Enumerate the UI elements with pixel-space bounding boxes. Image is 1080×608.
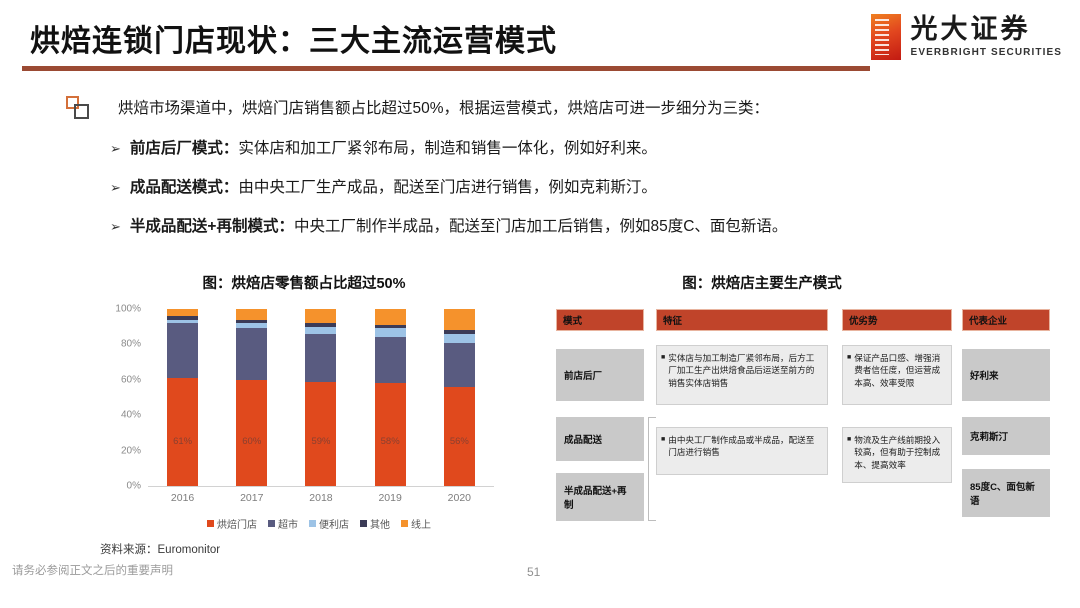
bullet-square-icon: ■ bbox=[847, 434, 851, 476]
square-outline-gray bbox=[74, 104, 89, 119]
bar-segment-超市 bbox=[167, 323, 198, 378]
cell-text: 由中央工厂制作成品或半成品，配送至门店进行销售 bbox=[668, 434, 821, 468]
bullet-list: ➢ 前店后厂模式： 实体店和加工厂紧邻布局，制造和销售一体化，例如好利来。 ➢ … bbox=[110, 136, 1040, 253]
x-axis-tick: 2016 bbox=[153, 492, 212, 504]
cell-text: 实体店与加工制造厂紧邻布局，后方工厂加工生产出烘焙食品后运送至前方的销售实体店销… bbox=[668, 352, 821, 398]
table-proscons-cell: ■物流及生产线前期投入较高，但有助于控制成本、提高效率 bbox=[842, 427, 952, 483]
bar-group: 61%60%59%58%56% bbox=[148, 309, 494, 486]
table-mode-cell: 前店后厂 bbox=[556, 349, 644, 401]
bar-segment-线上 bbox=[444, 309, 475, 330]
legend-swatch-icon bbox=[207, 520, 214, 527]
cell-text: 保证产品口感、增强消费者信任度，但运营成本高、效率受限 bbox=[854, 352, 945, 398]
legend-swatch-icon bbox=[309, 520, 316, 527]
table-mode-cell: 半成品配送+再制 bbox=[556, 473, 644, 521]
title-underline bbox=[22, 66, 870, 71]
bullet-term: 成品配送模式： bbox=[130, 175, 239, 197]
y-axis-tick: 0% bbox=[127, 481, 141, 492]
y-axis-tick: 100% bbox=[115, 304, 141, 315]
bar-segment-线上 bbox=[236, 309, 267, 320]
y-axis-tick: 60% bbox=[121, 374, 141, 385]
arrow-marker-icon: ➢ bbox=[110, 180, 121, 196]
bar-column: 60% bbox=[222, 309, 281, 486]
disclaimer-note: 请务必参阅正文之后的重要声明 bbox=[12, 562, 173, 578]
legend-swatch-icon bbox=[360, 520, 367, 527]
bullet-text: 实体店和加工厂紧邻布局，制造和销售一体化，例如好利来。 bbox=[238, 136, 657, 158]
legend-swatch-icon bbox=[268, 520, 275, 527]
page-number: 51 bbox=[527, 565, 540, 579]
legend-item[interactable]: 其他 bbox=[360, 516, 390, 531]
table-feature-cell: ■实体店与加工制造厂紧邻布局，后方工厂加工生产出烘焙食品后运送至前方的销售实体店… bbox=[656, 345, 828, 405]
bar-segment-超市 bbox=[444, 343, 475, 387]
page-title: 烘焙连锁门店现状：三大主流运营模式 bbox=[30, 16, 557, 60]
bullet-term: 前店后厂模式： bbox=[130, 136, 239, 158]
double-square-icon bbox=[66, 96, 90, 120]
table-header-1: 模式 bbox=[556, 309, 644, 331]
legend-label: 便利店 bbox=[319, 516, 349, 531]
bar-segment-烘焙门店 bbox=[375, 383, 406, 486]
logo-english-name: EVERBRIGHT SECURITIES bbox=[911, 48, 1062, 58]
lead-paragraph: 烘焙市场渠道中，烘焙门店销售额占比超过50%，根据运营模式，烘焙店可进一步细分为… bbox=[118, 96, 769, 118]
table-title: 图：烘焙店主要生产模式 bbox=[552, 272, 972, 293]
legend-label: 线上 bbox=[411, 516, 431, 531]
x-axis-ticks: 20162017201820192020 bbox=[148, 492, 494, 504]
table-company-cell: 克莉斯汀 bbox=[962, 417, 1050, 455]
bar-segment-超市 bbox=[305, 334, 336, 382]
brand-logo: 光大证券 EVERBRIGHT SECURITIES bbox=[871, 14, 1062, 60]
bar-segment-烘焙门店 bbox=[236, 380, 267, 486]
bar-data-label: 60% bbox=[236, 436, 267, 447]
everbright-logo-icon bbox=[871, 14, 901, 60]
y-axis-tick: 40% bbox=[121, 410, 141, 421]
bar-segment-烘焙门店 bbox=[305, 382, 336, 486]
bar-segment-烘焙门店 bbox=[167, 378, 198, 486]
bar-segment-便利店 bbox=[444, 334, 475, 343]
logo-chinese-name: 光大证券 bbox=[911, 16, 1062, 43]
stacked-bar[interactable]: 59% bbox=[305, 309, 336, 486]
stacked-bar[interactable]: 56% bbox=[444, 309, 475, 486]
bar-column: 61% bbox=[153, 309, 212, 486]
table-feature-cell: ■由中央工厂制作成品或半成品，配送至门店进行销售 bbox=[656, 427, 828, 475]
bar-segment-线上 bbox=[305, 309, 336, 323]
stacked-bar[interactable]: 58% bbox=[375, 309, 406, 486]
table-company-cell: 好利来 bbox=[962, 349, 1050, 401]
legend-item[interactable]: 线上 bbox=[401, 516, 431, 531]
bullet-term: 半成品配送+再制模式： bbox=[130, 214, 294, 236]
table-header-3: 优劣势 bbox=[842, 309, 952, 331]
x-axis-tick: 2017 bbox=[222, 492, 281, 504]
chart-title: 图：烘焙店零售额占比超过50% bbox=[104, 272, 504, 293]
bar-segment-便利店 bbox=[375, 328, 406, 337]
cell-text: 物流及生产线前期投入较高，但有助于控制成本、提高效率 bbox=[854, 434, 945, 476]
x-axis-tick: 2019 bbox=[361, 492, 420, 504]
x-axis-tick: 2018 bbox=[292, 492, 351, 504]
bar-data-label: 59% bbox=[305, 436, 336, 447]
list-item: ➢ 前店后厂模式： 实体店和加工厂紧邻布局，制造和销售一体化，例如好利来。 bbox=[110, 136, 1040, 158]
source-note: 资料来源：Euromonitor bbox=[100, 541, 220, 557]
legend-label: 超市 bbox=[278, 516, 298, 531]
table-mode-cell: 成品配送 bbox=[556, 417, 644, 461]
table-header-2: 特征 bbox=[656, 309, 828, 331]
y-axis-tick: 20% bbox=[121, 445, 141, 456]
production-mode-table: 图：烘焙店主要生产模式 模式特征优劣势代表企业前店后厂■实体店与加工制造厂紧邻布… bbox=[552, 272, 972, 524]
arrow-marker-icon: ➢ bbox=[110, 219, 121, 235]
legend-item[interactable]: 便利店 bbox=[309, 516, 349, 531]
legend-item[interactable]: 烘焙门店 bbox=[207, 516, 257, 531]
legend-label: 烘焙门店 bbox=[217, 516, 257, 531]
bar-segment-线上 bbox=[375, 309, 406, 325]
legend-swatch-icon bbox=[401, 520, 408, 527]
retail-share-chart: 图：烘焙店零售额占比超过50% 0%20%40%60%80%100% 61%60… bbox=[104, 272, 504, 531]
merge-brace bbox=[648, 417, 656, 521]
bar-segment-超市 bbox=[236, 328, 267, 379]
legend-item[interactable]: 超市 bbox=[268, 516, 298, 531]
stacked-bar[interactable]: 60% bbox=[236, 309, 267, 486]
arrow-marker-icon: ➢ bbox=[110, 141, 121, 157]
bullet-square-icon: ■ bbox=[661, 352, 665, 398]
y-axis-tick: 80% bbox=[121, 339, 141, 350]
bullet-square-icon: ■ bbox=[661, 434, 665, 468]
table-company-cell: 85度C、面包新语 bbox=[962, 469, 1050, 517]
bar-data-label: 58% bbox=[375, 436, 406, 447]
legend-label: 其他 bbox=[370, 516, 390, 531]
bullet-text: 中央工厂制作半成品，配送至门店加工后销售，例如85度C、面包新语。 bbox=[294, 214, 787, 236]
x-axis-tick: 2020 bbox=[430, 492, 489, 504]
table-proscons-cell: ■保证产品口感、增强消费者信任度，但运营成本高、效率受限 bbox=[842, 345, 952, 405]
bar-segment-便利店 bbox=[305, 327, 336, 334]
bullet-text: 由中央工厂生产成品，配送至门店进行销售，例如克莉斯汀。 bbox=[238, 175, 657, 197]
bar-segment-线上 bbox=[167, 309, 198, 316]
chart-plot-area: 0%20%40%60%80%100% 61%60%59%58%56% bbox=[148, 309, 494, 487]
table-header-4: 代表企业 bbox=[962, 309, 1050, 331]
chart-legend: 烘焙门店超市便利店其他线上 bbox=[134, 516, 504, 531]
bar-segment-超市 bbox=[375, 337, 406, 383]
list-item: ➢ 半成品配送+再制模式： 中央工厂制作半成品，配送至门店加工后销售，例如85度… bbox=[110, 214, 1040, 236]
stacked-bar[interactable]: 61% bbox=[167, 309, 198, 486]
bar-data-label: 56% bbox=[444, 436, 475, 447]
bar-column: 59% bbox=[292, 309, 351, 486]
bullet-square-icon: ■ bbox=[847, 352, 851, 398]
bar-data-label: 61% bbox=[167, 436, 198, 447]
table-body: 模式特征优劣势代表企业前店后厂■实体店与加工制造厂紧邻布局，后方工厂加工生产出烘… bbox=[552, 309, 972, 524]
bar-column: 56% bbox=[430, 309, 489, 486]
list-item: ➢ 成品配送模式： 由中央工厂生产成品，配送至门店进行销售，例如克莉斯汀。 bbox=[110, 175, 1040, 197]
bar-column: 58% bbox=[361, 309, 420, 486]
